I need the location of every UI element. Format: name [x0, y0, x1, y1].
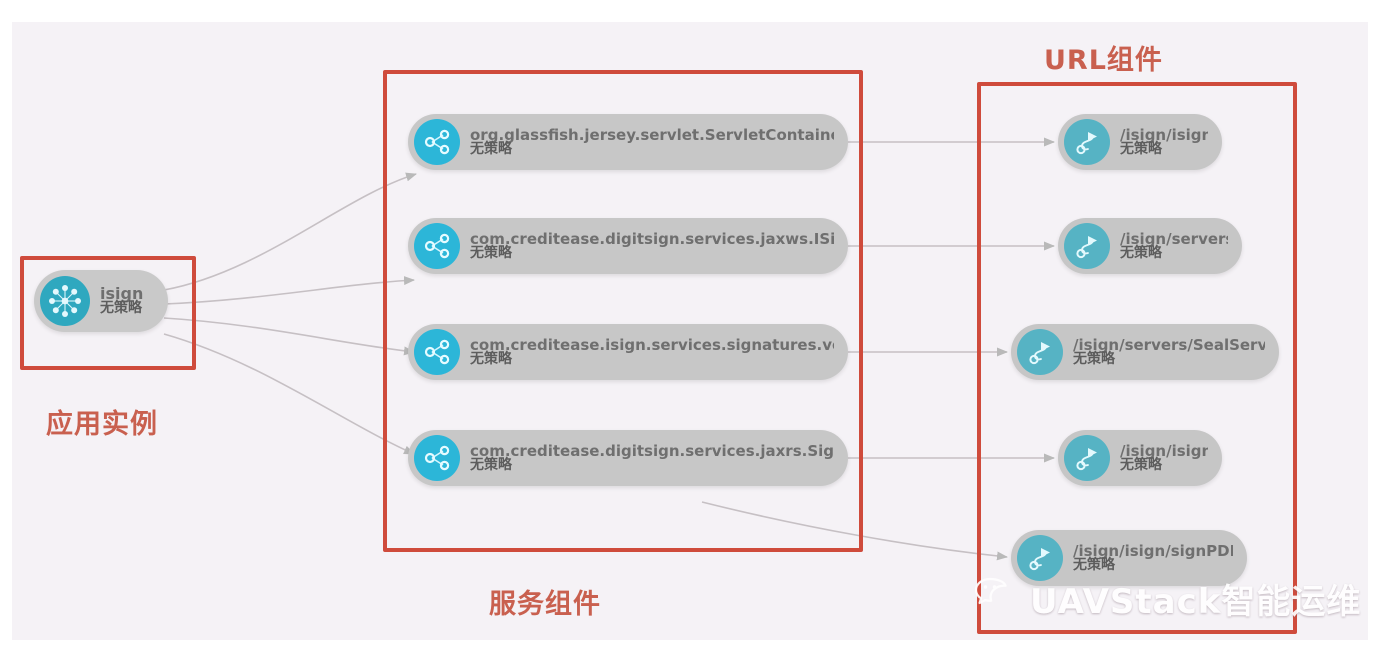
caption-service-component: 服务组件 — [489, 582, 601, 621]
diagram-inner-canvas: URL组件 应用实例 服务组件 — [12, 22, 1368, 640]
route-marker-icon — [1017, 329, 1063, 375]
watermark-text: UAVStack智能运维 — [1030, 574, 1361, 623]
service-node[interactable]: org.glassfish.jersey.servlet.ServletCont… — [408, 114, 848, 170]
url-node[interactable]: /isign/isign 无策略 — [1058, 430, 1222, 486]
url-node[interactable]: /isign/servers/SealService 无策略 — [1011, 324, 1279, 380]
service-node-status: 无策略 — [470, 142, 834, 157]
hub-spoke-icon — [40, 276, 90, 326]
share-network-icon — [414, 329, 460, 375]
route-marker-icon — [1064, 119, 1110, 165]
app-instance-status: 无策略 — [100, 301, 143, 316]
url-node[interactable]: /isign/isign 无策略 — [1058, 114, 1222, 170]
service-node[interactable]: com.creditease.digitsign.services.jaxws.… — [408, 218, 848, 274]
url-node[interactable]: /isign/servers 无策略 — [1058, 218, 1242, 274]
share-network-icon — [414, 435, 460, 481]
service-node[interactable]: com.creditease.digitsign.services.jaxrs.… — [408, 430, 848, 486]
share-network-icon — [414, 223, 460, 269]
wechat-icon — [974, 575, 1020, 622]
watermark: UAVStack智能运维 — [974, 574, 1361, 623]
app-instance-node[interactable]: isign 无策略 — [34, 270, 168, 332]
share-network-icon — [414, 119, 460, 165]
service-node-status: 无策略 — [470, 246, 834, 261]
url-node-status: 无策略 — [1073, 558, 1233, 573]
service-node-status: 无策略 — [470, 352, 834, 367]
url-node-status: 无策略 — [1120, 142, 1208, 157]
url-node-status: 无策略 — [1073, 352, 1265, 367]
route-marker-icon — [1064, 435, 1110, 481]
service-node-name: com.creditease.digitsign.services.jaxrs.… — [470, 444, 834, 460]
service-node[interactable]: com.creditease.isign.services.signatures… — [408, 324, 848, 380]
caption-url-component: URL组件 — [1044, 38, 1163, 77]
diagram-canvas: URL组件 应用实例 服务组件 — [0, 0, 1378, 654]
service-node-name: com.creditease.digitsign.services.jaxws.… — [470, 232, 834, 248]
service-node-name: org.glassfish.jersey.servlet.ServletCont… — [470, 128, 834, 144]
url-node-status: 无策略 — [1120, 246, 1228, 261]
route-marker-icon — [1064, 223, 1110, 269]
caption-app-instance: 应用实例 — [46, 402, 158, 441]
url-node-status: 无策略 — [1120, 458, 1208, 473]
service-node-name: com.creditease.isign.services.signatures… — [470, 338, 834, 354]
service-node-status: 无策略 — [470, 458, 834, 473]
